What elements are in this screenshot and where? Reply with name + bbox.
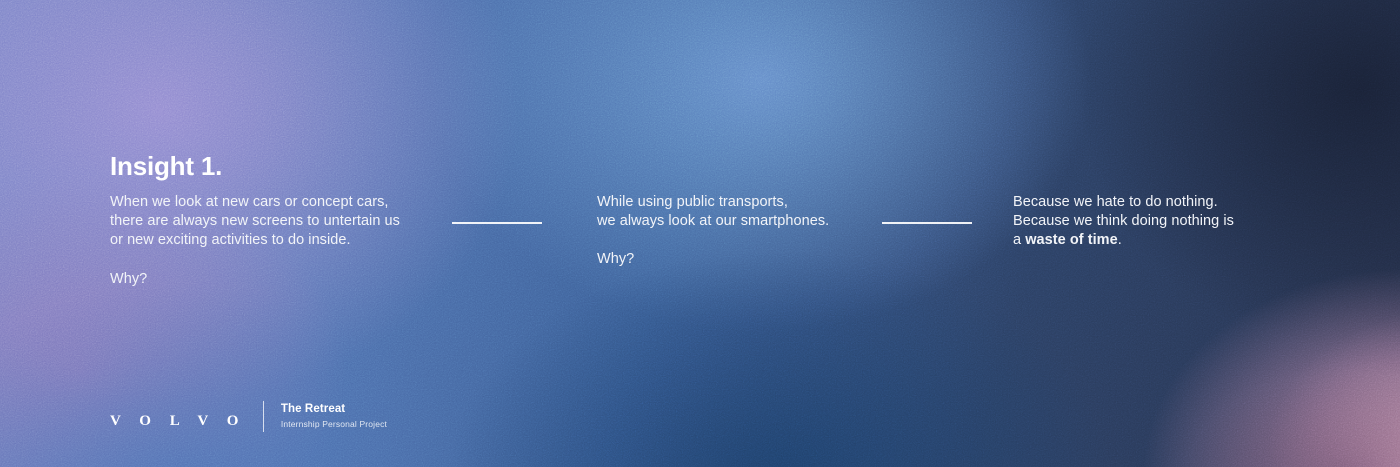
premise-question: Why? <box>110 270 440 289</box>
footer-divider <box>263 401 264 432</box>
connector-line-2 <box>882 222 972 224</box>
conclusion-line-3: a waste of time. <box>1013 231 1313 250</box>
premise-line-3: or new exciting activities to do inside. <box>110 231 440 250</box>
column-conclusion: Because we hate to do nothing. Because w… <box>1013 193 1313 251</box>
conclusion-prefix: a <box>1013 232 1025 248</box>
footer-project-info: The Retreat Internship Personal Project <box>281 404 387 428</box>
project-title: The Retreat <box>281 404 387 416</box>
conclusion-suffix: . <box>1118 232 1122 248</box>
observation-line-1: While using public transports, <box>597 193 897 212</box>
conclusion-line-1: Because we hate to do nothing. <box>1013 193 1313 212</box>
observation-question: Why? <box>597 250 897 269</box>
conclusion-emphasis: waste of time <box>1025 232 1118 248</box>
insight-slide: Insight 1. When we look at new cars or c… <box>0 0 1400 467</box>
connector-line-1 <box>452 222 542 224</box>
observation-line-2: we always look at our smartphones. <box>597 212 897 231</box>
slide-content: Insight 1. When we look at new cars or c… <box>0 0 1400 467</box>
slide-footer: V O L V O The Retreat Internship Persona… <box>110 398 387 434</box>
conclusion-line-2: Because we think doing nothing is <box>1013 212 1313 231</box>
project-subtitle: Internship Personal Project <box>281 420 387 429</box>
column-observation: While using public transports, we always… <box>597 193 897 270</box>
column-premise: When we look at new cars or concept cars… <box>110 193 440 289</box>
premise-line-2: there are always new screens to untertai… <box>110 212 440 231</box>
page-title: Insight 1. <box>110 153 222 179</box>
premise-line-1: When we look at new cars or concept cars… <box>110 193 440 212</box>
volvo-wordmark: V O L V O <box>110 404 246 429</box>
